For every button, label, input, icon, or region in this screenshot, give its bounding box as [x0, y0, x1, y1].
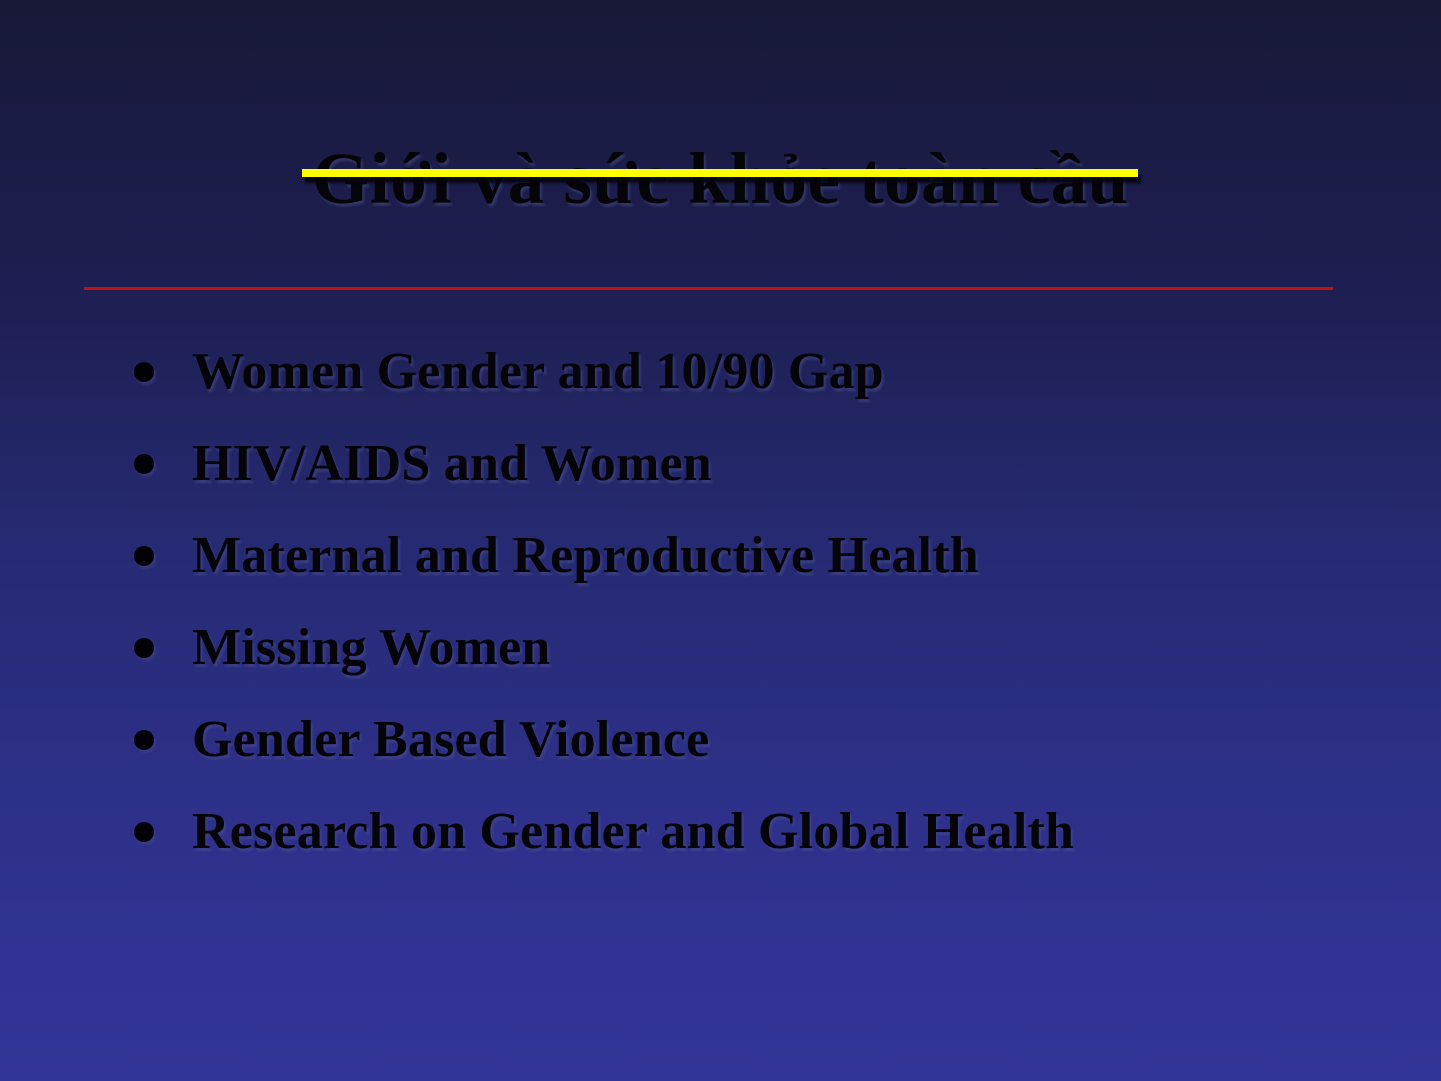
list-item-label: Gender Based Violence [192, 713, 1380, 768]
bullet-dot-icon [134, 638, 154, 658]
presentation-slide: Giới và sức khỏe toàn cầu Women Gender a… [0, 0, 1441, 1081]
list-item-label: Maternal and Reproductive Health [192, 529, 1380, 584]
bullet-dot-icon [134, 822, 154, 842]
list-item: Gender Based Violence [120, 694, 1380, 786]
list-item-label: Missing Women [192, 621, 1380, 676]
bullet-dot-icon [134, 730, 154, 750]
list-item: Missing Women [120, 602, 1380, 694]
list-item-label: Women Gender and 10/90 Gap [192, 345, 1380, 400]
bullet-dot-icon [134, 362, 154, 382]
horizontal-divider-rule [84, 287, 1333, 290]
title-underline-rule [302, 169, 1138, 177]
title-block: Giới và sức khỏe toàn cầu [0, 92, 1441, 274]
page-title: Giới và sức khỏe toàn cầu [306, 141, 1135, 226]
list-item: Maternal and Reproductive Health [120, 510, 1380, 602]
bullet-dot-icon [134, 546, 154, 566]
bullet-dot-icon [134, 454, 154, 474]
bullet-list: Women Gender and 10/90 Gap HIV/AIDS and … [120, 326, 1380, 878]
list-item: Women Gender and 10/90 Gap [120, 326, 1380, 418]
list-item-label: Research on Gender and Global Health [192, 805, 1380, 860]
list-item: HIV/AIDS and Women [120, 418, 1380, 510]
list-item-label: HIV/AIDS and Women [192, 437, 1380, 492]
list-item: Research on Gender and Global Health [120, 786, 1380, 878]
